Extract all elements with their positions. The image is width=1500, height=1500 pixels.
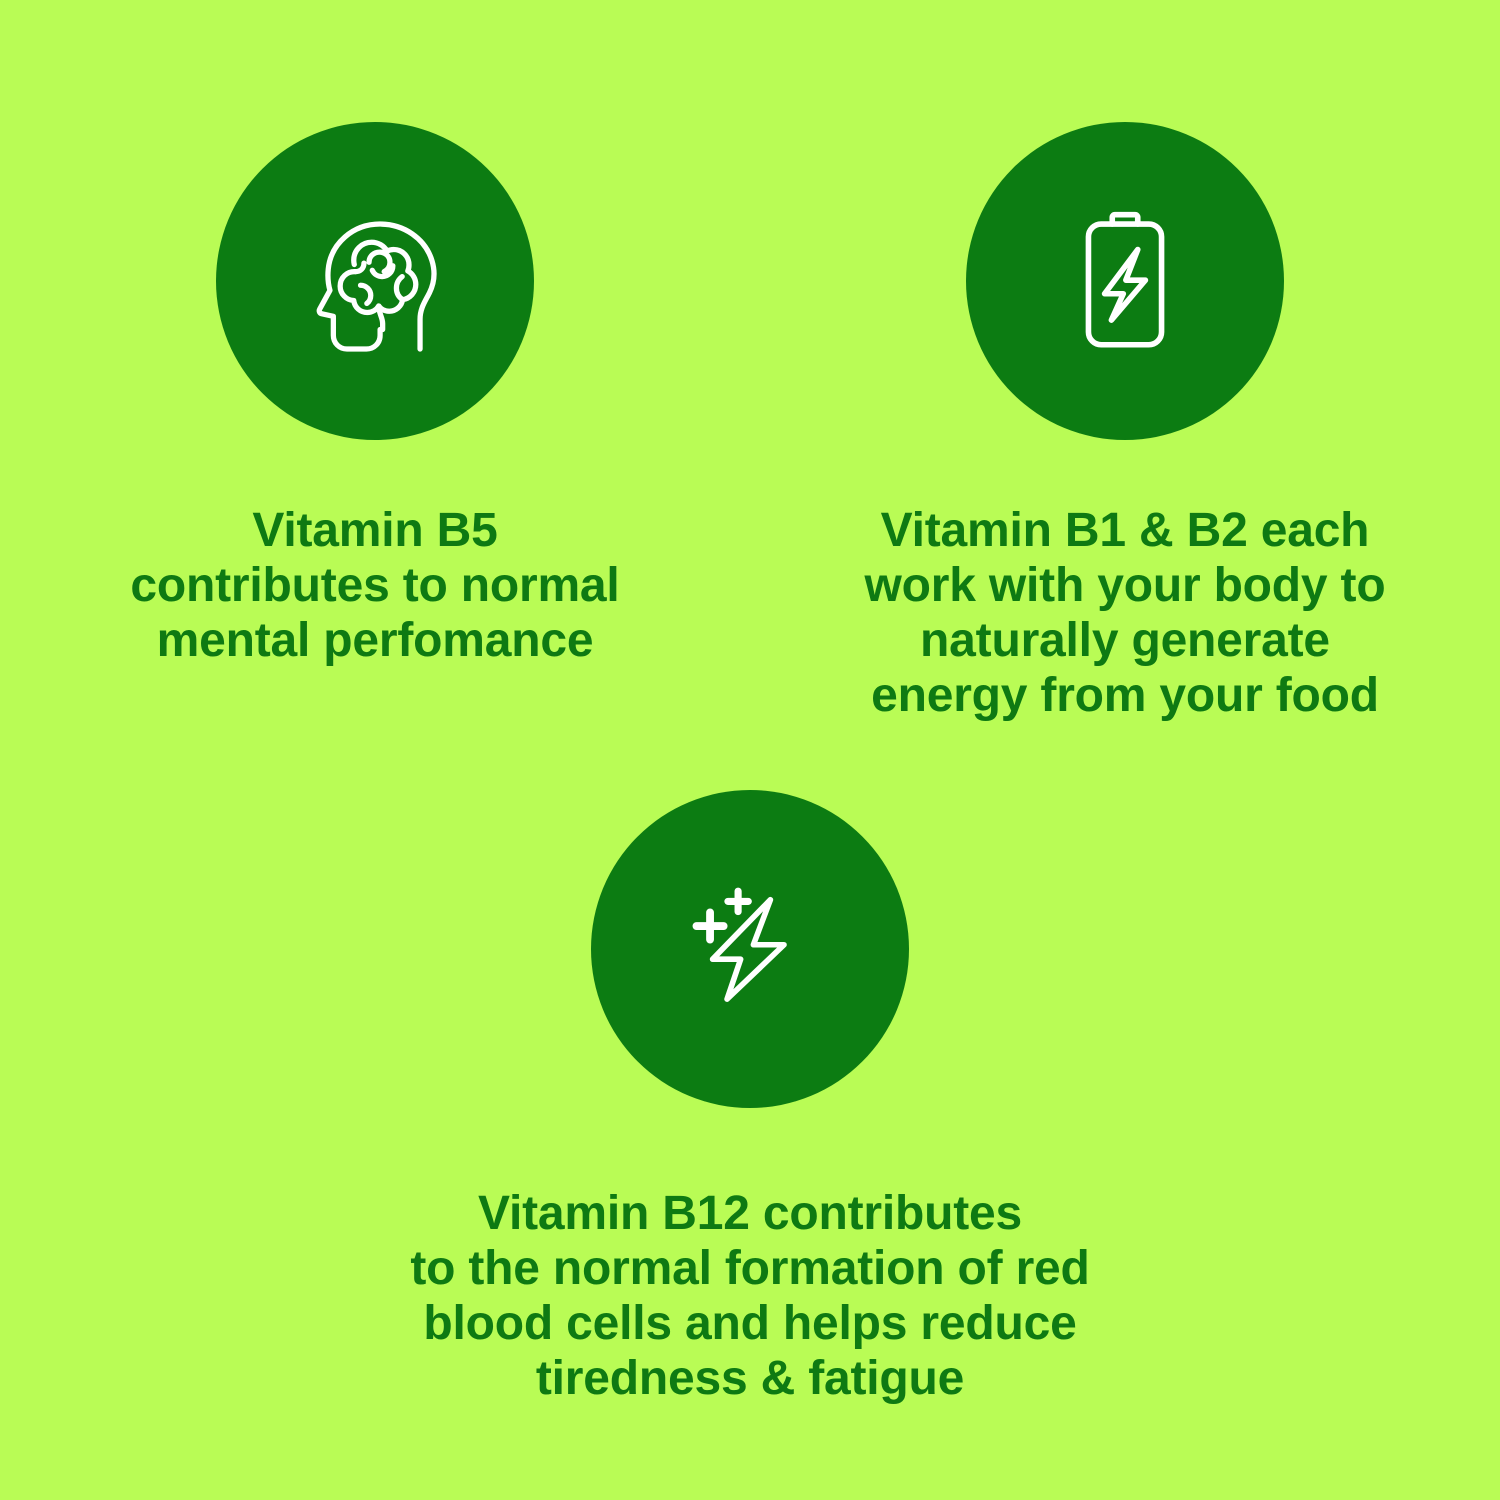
battery-charge-icon-badge (966, 122, 1284, 440)
vitamin-benefits-infographic: Vitamin B5 contributes to normal mental … (0, 0, 1500, 1500)
benefit-caption-vitamin-b1-b2: Vitamin B1 & B2 each work with your body… (765, 503, 1485, 723)
benefit-caption-vitamin-b5: Vitamin B5 contributes to normal mental … (25, 503, 725, 668)
benefit-card-vitamin-b5: Vitamin B5 contributes to normal mental … (0, 0, 750, 760)
top-benefit-row: Vitamin B5 contributes to normal mental … (0, 0, 1500, 760)
battery-charge-icon (1040, 196, 1210, 366)
lightning-sparkle-icon (665, 864, 835, 1034)
head-brain-icon-badge (216, 122, 534, 440)
benefit-card-vitamin-b12: Vitamin B12 contributes to the normal fo… (0, 790, 1500, 1406)
benefit-caption-vitamin-b12: Vitamin B12 contributes to the normal fo… (300, 1186, 1200, 1406)
benefit-card-vitamin-b1-b2: Vitamin B1 & B2 each work with your body… (750, 0, 1500, 760)
lightning-sparkle-icon-badge (591, 790, 909, 1108)
head-brain-icon (290, 196, 460, 366)
